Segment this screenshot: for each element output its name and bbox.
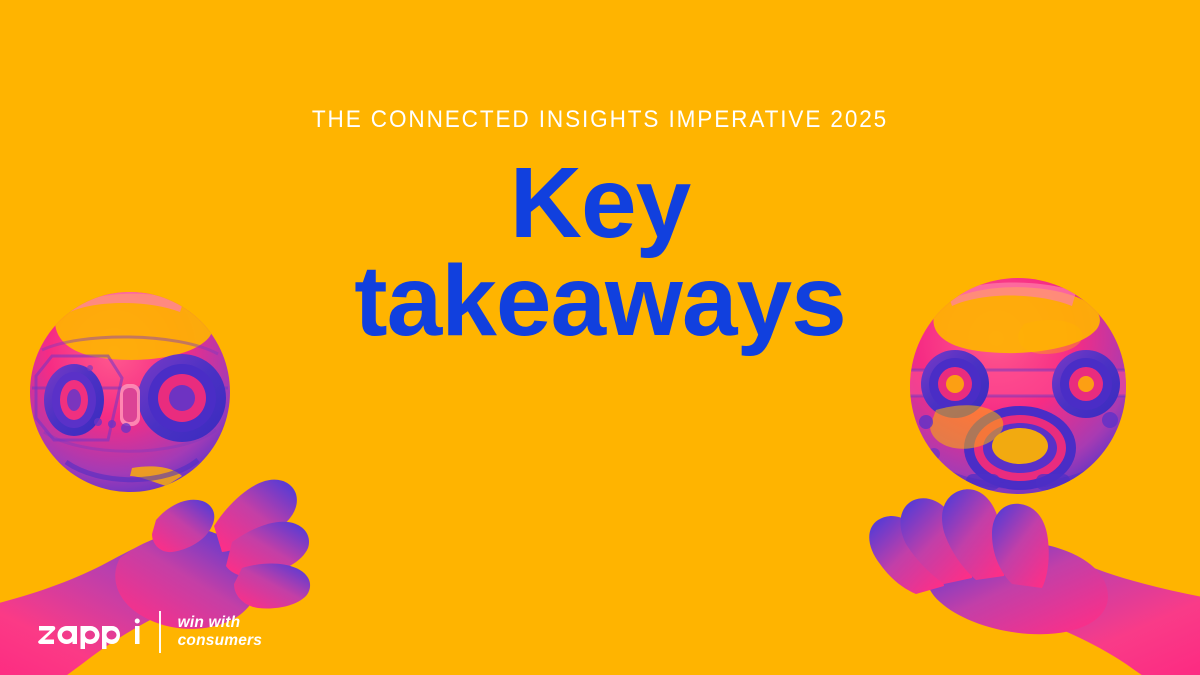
right-techno-sphere [904,278,1134,494]
logo-lockup: win with consumers [38,611,262,653]
logo-tagline: win with consumers [178,614,263,651]
headline-line-1: Key [0,154,1200,252]
left-ring-finger [234,564,310,609]
left-techno-sphere [30,290,230,492]
logo-divider [159,611,161,653]
zappi-wordmark [38,615,120,649]
left-sphere-lens-a [44,364,104,436]
slide-canvas: THE CONNECTED INSIGHTS IMPERATIVE 2025 K… [0,0,1200,675]
left-sphere-lens-b [138,354,226,442]
right-sphere-lens-b [1052,350,1120,418]
hand-holding-sphere-right [820,258,1200,675]
eyebrow-text: THE CONNECTED INSIGHTS IMPERATIVE 2025 [36,0,1164,132]
zappi-wordmark-i [133,615,142,649]
